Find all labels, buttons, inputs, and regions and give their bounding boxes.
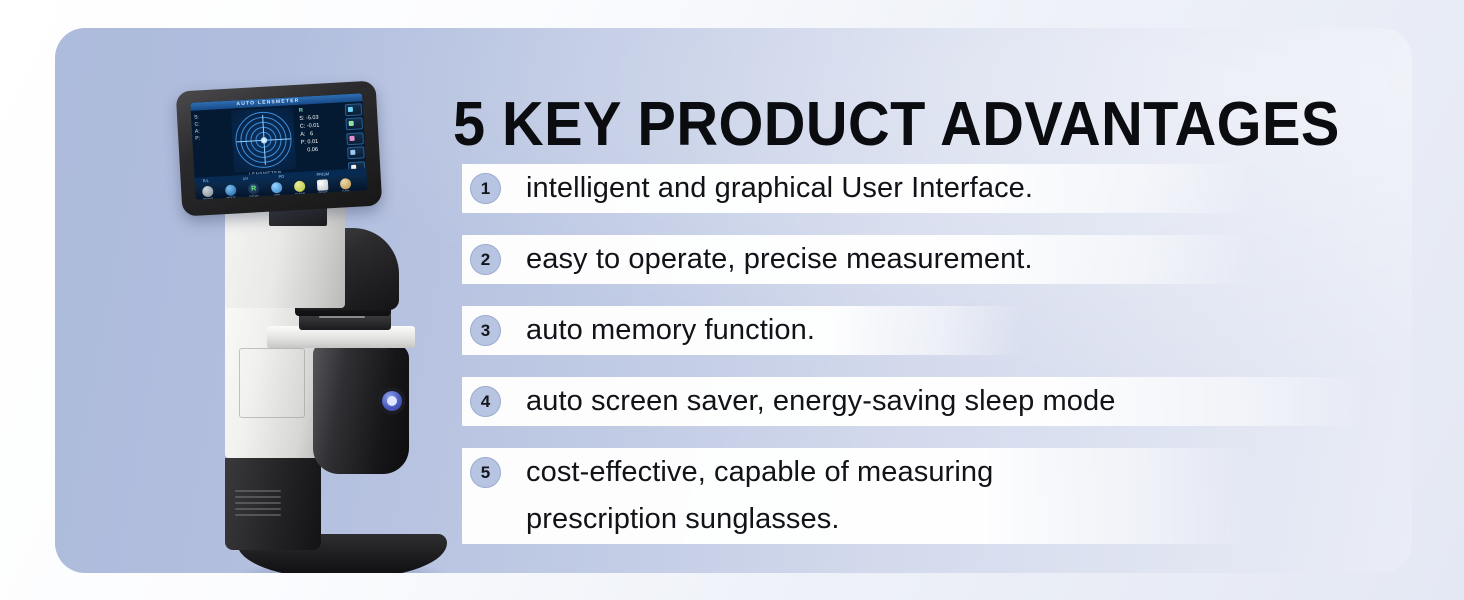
item-number-badge: 1 [470, 173, 501, 204]
status-label-prism: PRISM [316, 171, 329, 177]
list-item: 2 easy to operate, precise measurement. [462, 235, 1402, 284]
target-center-dot [260, 136, 267, 143]
vent-slots [235, 490, 281, 524]
item-number-badge: 2 [470, 244, 501, 275]
prism-icon[interactable] [346, 132, 364, 145]
toolbar-print-button[interactable]: PRINT [316, 179, 330, 191]
volume-icon[interactable] [347, 146, 365, 159]
list-item: 3 auto memory function. [462, 306, 1402, 355]
product-image: AUTO LENSMETER S:C:A:P: [117, 58, 467, 573]
status-label-pd: PD [278, 174, 284, 179]
list-item: 4 auto screen saver, energy-saving sleep… [462, 377, 1402, 426]
banner-page: AUTO LENSMETER S:C:A:P: [0, 0, 1464, 600]
item-number-badge: 4 [470, 386, 501, 417]
item-text-line2: prescription sunglasses. [526, 495, 840, 544]
item-number-badge: 3 [470, 315, 501, 346]
toolbar-setup-button[interactable]: SETUP [201, 186, 215, 198]
advantages-list: 1 intelligent and graphical User Interfa… [462, 164, 1402, 544]
access-panel [239, 348, 305, 418]
toolbar-clear-button[interactable]: CLEAR [293, 181, 307, 193]
toolbar-right-button[interactable]: R RIGHT [247, 183, 261, 195]
screen-side-buttons[interactable] [345, 103, 366, 176]
status-label-rl: R/L [203, 178, 210, 183]
advantages-card: AUTO LENSMETER S:C:A:P: [55, 28, 1412, 573]
toolbar-mode-button[interactable]: MODE [224, 184, 238, 196]
item-text: easy to operate, precise measurement. [526, 235, 1033, 284]
item-text: cost-effective, capable of measuring [526, 448, 993, 497]
measurement-readout: R S: -5.03 C: -0.01 A: 6 P: 0.01 0.06 [299, 104, 346, 154]
lcd-screen[interactable]: AUTO LENSMETER S:C:A:P: [190, 93, 367, 199]
save-icon[interactable] [345, 118, 363, 131]
status-label-uv: UV [242, 176, 248, 181]
contrast-icon[interactable] [345, 103, 363, 116]
item-text: auto memory function. [526, 306, 815, 355]
lcd-bezel: AUTO LENSMETER S:C:A:P: [176, 81, 383, 217]
screen-left-labels: S:C:A:P: [194, 114, 201, 142]
list-item: 5 cost-effective, capable of measuring p… [462, 448, 1402, 544]
list-item: 1 intelligent and graphical User Interfa… [462, 164, 1402, 213]
page-title: 5 KEY PRODUCT ADVANTAGES [453, 92, 1290, 158]
toolbar-add-button[interactable]: ADD [270, 182, 284, 194]
item-number-badge: 5 [470, 457, 501, 488]
item-text: auto screen saver, energy-saving sleep m… [526, 377, 1115, 426]
item-text: intelligent and graphical User Interface… [526, 164, 1033, 213]
indicator-light [379, 388, 405, 414]
toolbar-data-button[interactable]: DATA [339, 178, 353, 190]
screen-main-area: S:C:A:P: LENSMETER [191, 101, 366, 177]
lens-target-chart [231, 107, 296, 172]
